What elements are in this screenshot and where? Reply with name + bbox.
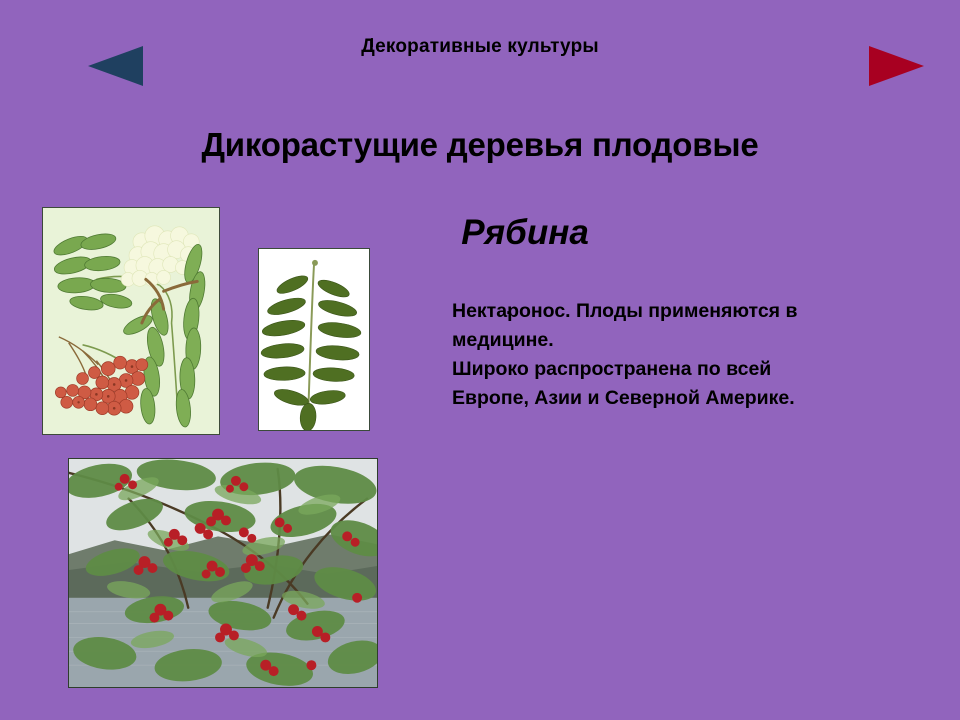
leaf-specimen-image (258, 248, 370, 431)
slide-root: Декоративные культуры Дикорастущие дерев… (0, 0, 960, 720)
page-title: Дикорастущие деревья плодовые (0, 126, 960, 164)
species-title: Рябина (400, 213, 650, 253)
botanical-illustration-image (42, 207, 220, 435)
slide-header-title: Декоративные культуры (0, 36, 960, 58)
body-description: Нектаронос. Плоды применяются в медицине… (452, 297, 932, 412)
rowan-tree-photo-image (68, 458, 378, 688)
